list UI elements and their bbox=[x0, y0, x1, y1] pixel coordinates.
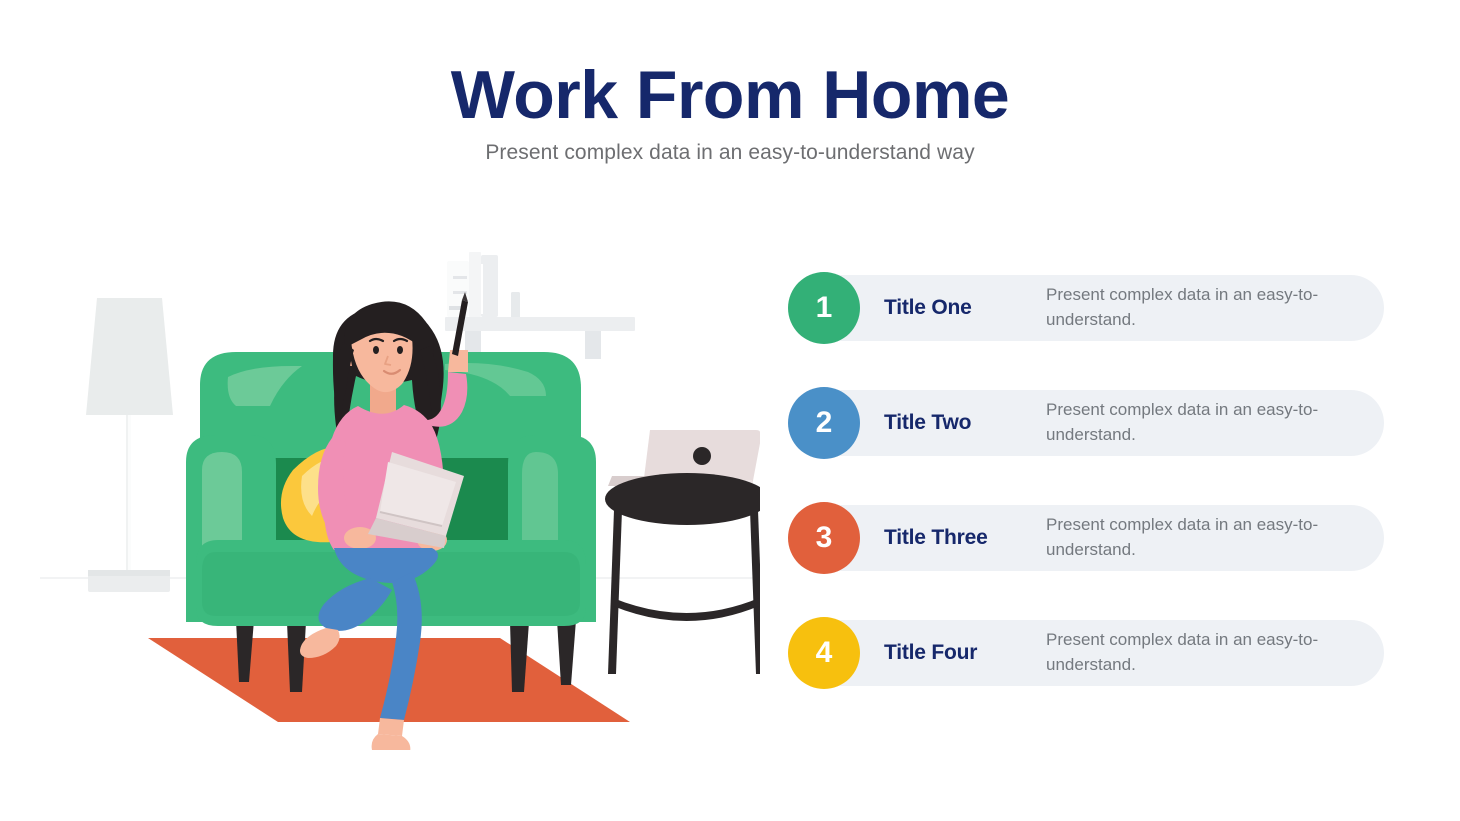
step-title-3: Title Three bbox=[884, 502, 1029, 574]
page-subtitle: Present complex data in an easy-to-under… bbox=[0, 141, 1460, 165]
step-description-2: Present complex data in an easy-to-under… bbox=[1046, 387, 1366, 459]
step-description-3: Present complex data in an easy-to-under… bbox=[1046, 502, 1366, 574]
side-table bbox=[605, 430, 760, 674]
sofa-leg bbox=[557, 620, 576, 685]
step-number-badge-1[interactable]: 1 bbox=[788, 272, 860, 344]
wall-shelf-icon bbox=[445, 252, 635, 359]
slide-header: Work From Home Present complex data in a… bbox=[0, 60, 1460, 165]
step-title-1: Title One bbox=[884, 272, 1029, 344]
step-number-badge-4[interactable]: 4 bbox=[788, 617, 860, 689]
floor-lamp-icon bbox=[86, 298, 173, 592]
step-number-badge-3[interactable]: 3 bbox=[788, 502, 860, 574]
list-item[interactable]: 3 Title Three Present complex data in an… bbox=[788, 502, 1388, 574]
step-description-1: Present complex data in an easy-to-under… bbox=[1046, 272, 1366, 344]
step-title-4: Title Four bbox=[884, 617, 1029, 689]
page-title: Work From Home bbox=[0, 60, 1460, 131]
step-title-2: Title Two bbox=[884, 387, 1029, 459]
list-item[interactable]: 2 Title Two Present complex data in an e… bbox=[788, 387, 1388, 459]
list-item[interactable]: 4 Title Four Present complex data in an … bbox=[788, 617, 1388, 689]
step-number-badge-2[interactable]: 2 bbox=[788, 387, 860, 459]
step-description-4: Present complex data in an easy-to-under… bbox=[1046, 617, 1366, 689]
steps-list: 1 Title One Present complex data in an e… bbox=[788, 272, 1388, 689]
list-item[interactable]: 1 Title One Present complex data in an e… bbox=[788, 272, 1388, 344]
illustration-work-from-home bbox=[40, 230, 760, 750]
